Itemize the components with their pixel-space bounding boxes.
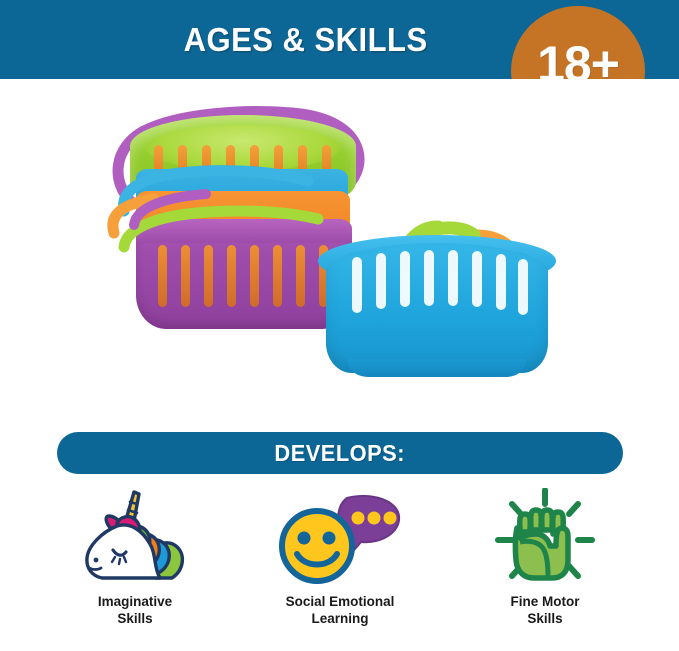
fist-icon [490,486,600,590]
skill-fine-motor: Fine Motor Skills [450,486,640,636]
skill-caption-line2: Skills [460,611,630,628]
skill-caption-line1: Fine Motor [460,594,630,611]
develops-banner: DEVELOPS: [57,432,623,474]
basket-blue-single [318,183,556,383]
develops-label: DEVELOPS: [275,440,406,467]
skill-caption-line2: Learning [255,611,425,628]
skill-caption-social-emotional: Social Emotional Learning [255,594,425,628]
product-photo [0,79,679,425]
basket-foot [348,359,526,377]
skill-caption-line1: Imaginative [50,594,220,611]
basket-body [326,243,548,373]
smiley-speech-bubble-icon [275,486,405,590]
skills-row: Imaginative Skills Social Emotional Lear… [40,486,640,636]
skill-caption-imaginative: Imaginative Skills [50,594,220,628]
skill-caption-line1: Social Emotional [255,594,425,611]
unicorn-icon [76,486,194,590]
skill-imaginative: Imaginative Skills [40,486,230,636]
skill-caption-fine-motor: Fine Motor Skills [460,594,630,628]
skill-social-emotional: Social Emotional Learning [245,486,435,636]
skill-caption-line2: Skills [50,611,220,628]
